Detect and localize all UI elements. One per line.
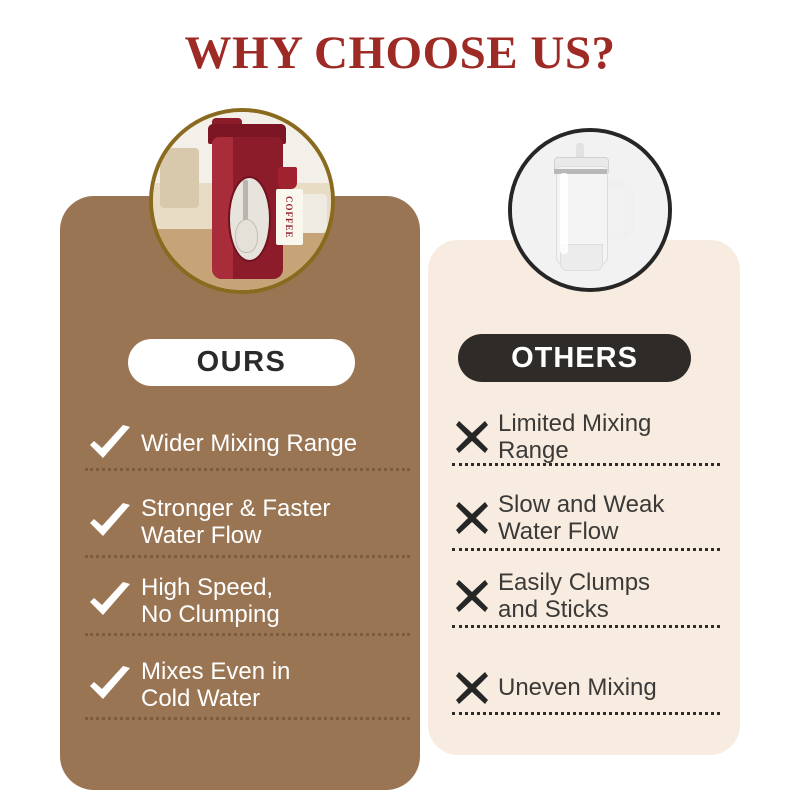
ours-divider — [85, 633, 410, 636]
infographic-canvas: WHY CHOOSE US? COFFEE — [0, 0, 800, 800]
others-feature-label: Easily Clumps and Sticks — [498, 569, 650, 623]
others-heading-pill: OTHERS — [458, 334, 691, 382]
others-feature-label: Limited Mixing Range — [498, 410, 722, 464]
ours-feature-row: Wider Mixing Range — [85, 423, 410, 465]
cross-icon — [452, 419, 492, 455]
ours-feature-row: Mixes Even in Cold Water — [85, 656, 410, 714]
ours-feature-label: High Speed, No Clumping — [141, 574, 280, 628]
cross-icon — [452, 500, 492, 536]
others-feature-row: Limited Mixing Range — [452, 418, 722, 456]
cross-icon — [452, 578, 492, 614]
check-icon — [85, 425, 135, 463]
ours-feature-label: Mixes Even in Cold Water — [141, 658, 290, 712]
others-product-image — [508, 128, 672, 292]
others-divider — [452, 548, 720, 551]
cross-icon — [452, 670, 492, 706]
page-title: WHY CHOOSE US? — [0, 26, 800, 80]
bottle-coffee-tag: COFFEE — [276, 189, 303, 246]
ours-product-image: COFFEE — [149, 108, 335, 294]
check-icon — [85, 666, 135, 704]
bottle-coffee-tag-label: COFFEE — [276, 189, 303, 246]
others-divider — [452, 712, 720, 715]
ours-feature-label: Stronger & Faster Water Flow — [141, 495, 330, 549]
check-icon — [85, 582, 135, 620]
ours-divider — [85, 468, 410, 471]
others-divider — [452, 463, 720, 466]
ours-divider — [85, 555, 410, 558]
ours-feature-label: Wider Mixing Range — [141, 430, 357, 457]
bottle-tag-clip — [278, 167, 298, 188]
ours-divider — [85, 717, 410, 720]
ours-feature-row: Stronger & Faster Water Flow — [85, 493, 410, 551]
others-feature-row: Uneven Mixing — [452, 668, 722, 708]
others-divider — [452, 625, 720, 628]
bottle-mixer-blade — [235, 219, 258, 253]
ours-heading-label: OURS — [197, 346, 287, 379]
ours-heading-pill: OURS — [128, 339, 355, 386]
tumbler-highlight — [560, 173, 568, 254]
check-icon — [85, 503, 135, 541]
others-feature-label: Uneven Mixing — [498, 674, 657, 701]
others-feature-row: Easily Clumps and Sticks — [452, 568, 722, 624]
ours-feature-row: High Speed, No Clumping — [85, 572, 410, 630]
others-feature-row: Slow and Weak Water Flow — [452, 490, 722, 546]
others-feature-label: Slow and Weak Water Flow — [498, 491, 664, 545]
others-heading-label: OTHERS — [511, 342, 638, 375]
